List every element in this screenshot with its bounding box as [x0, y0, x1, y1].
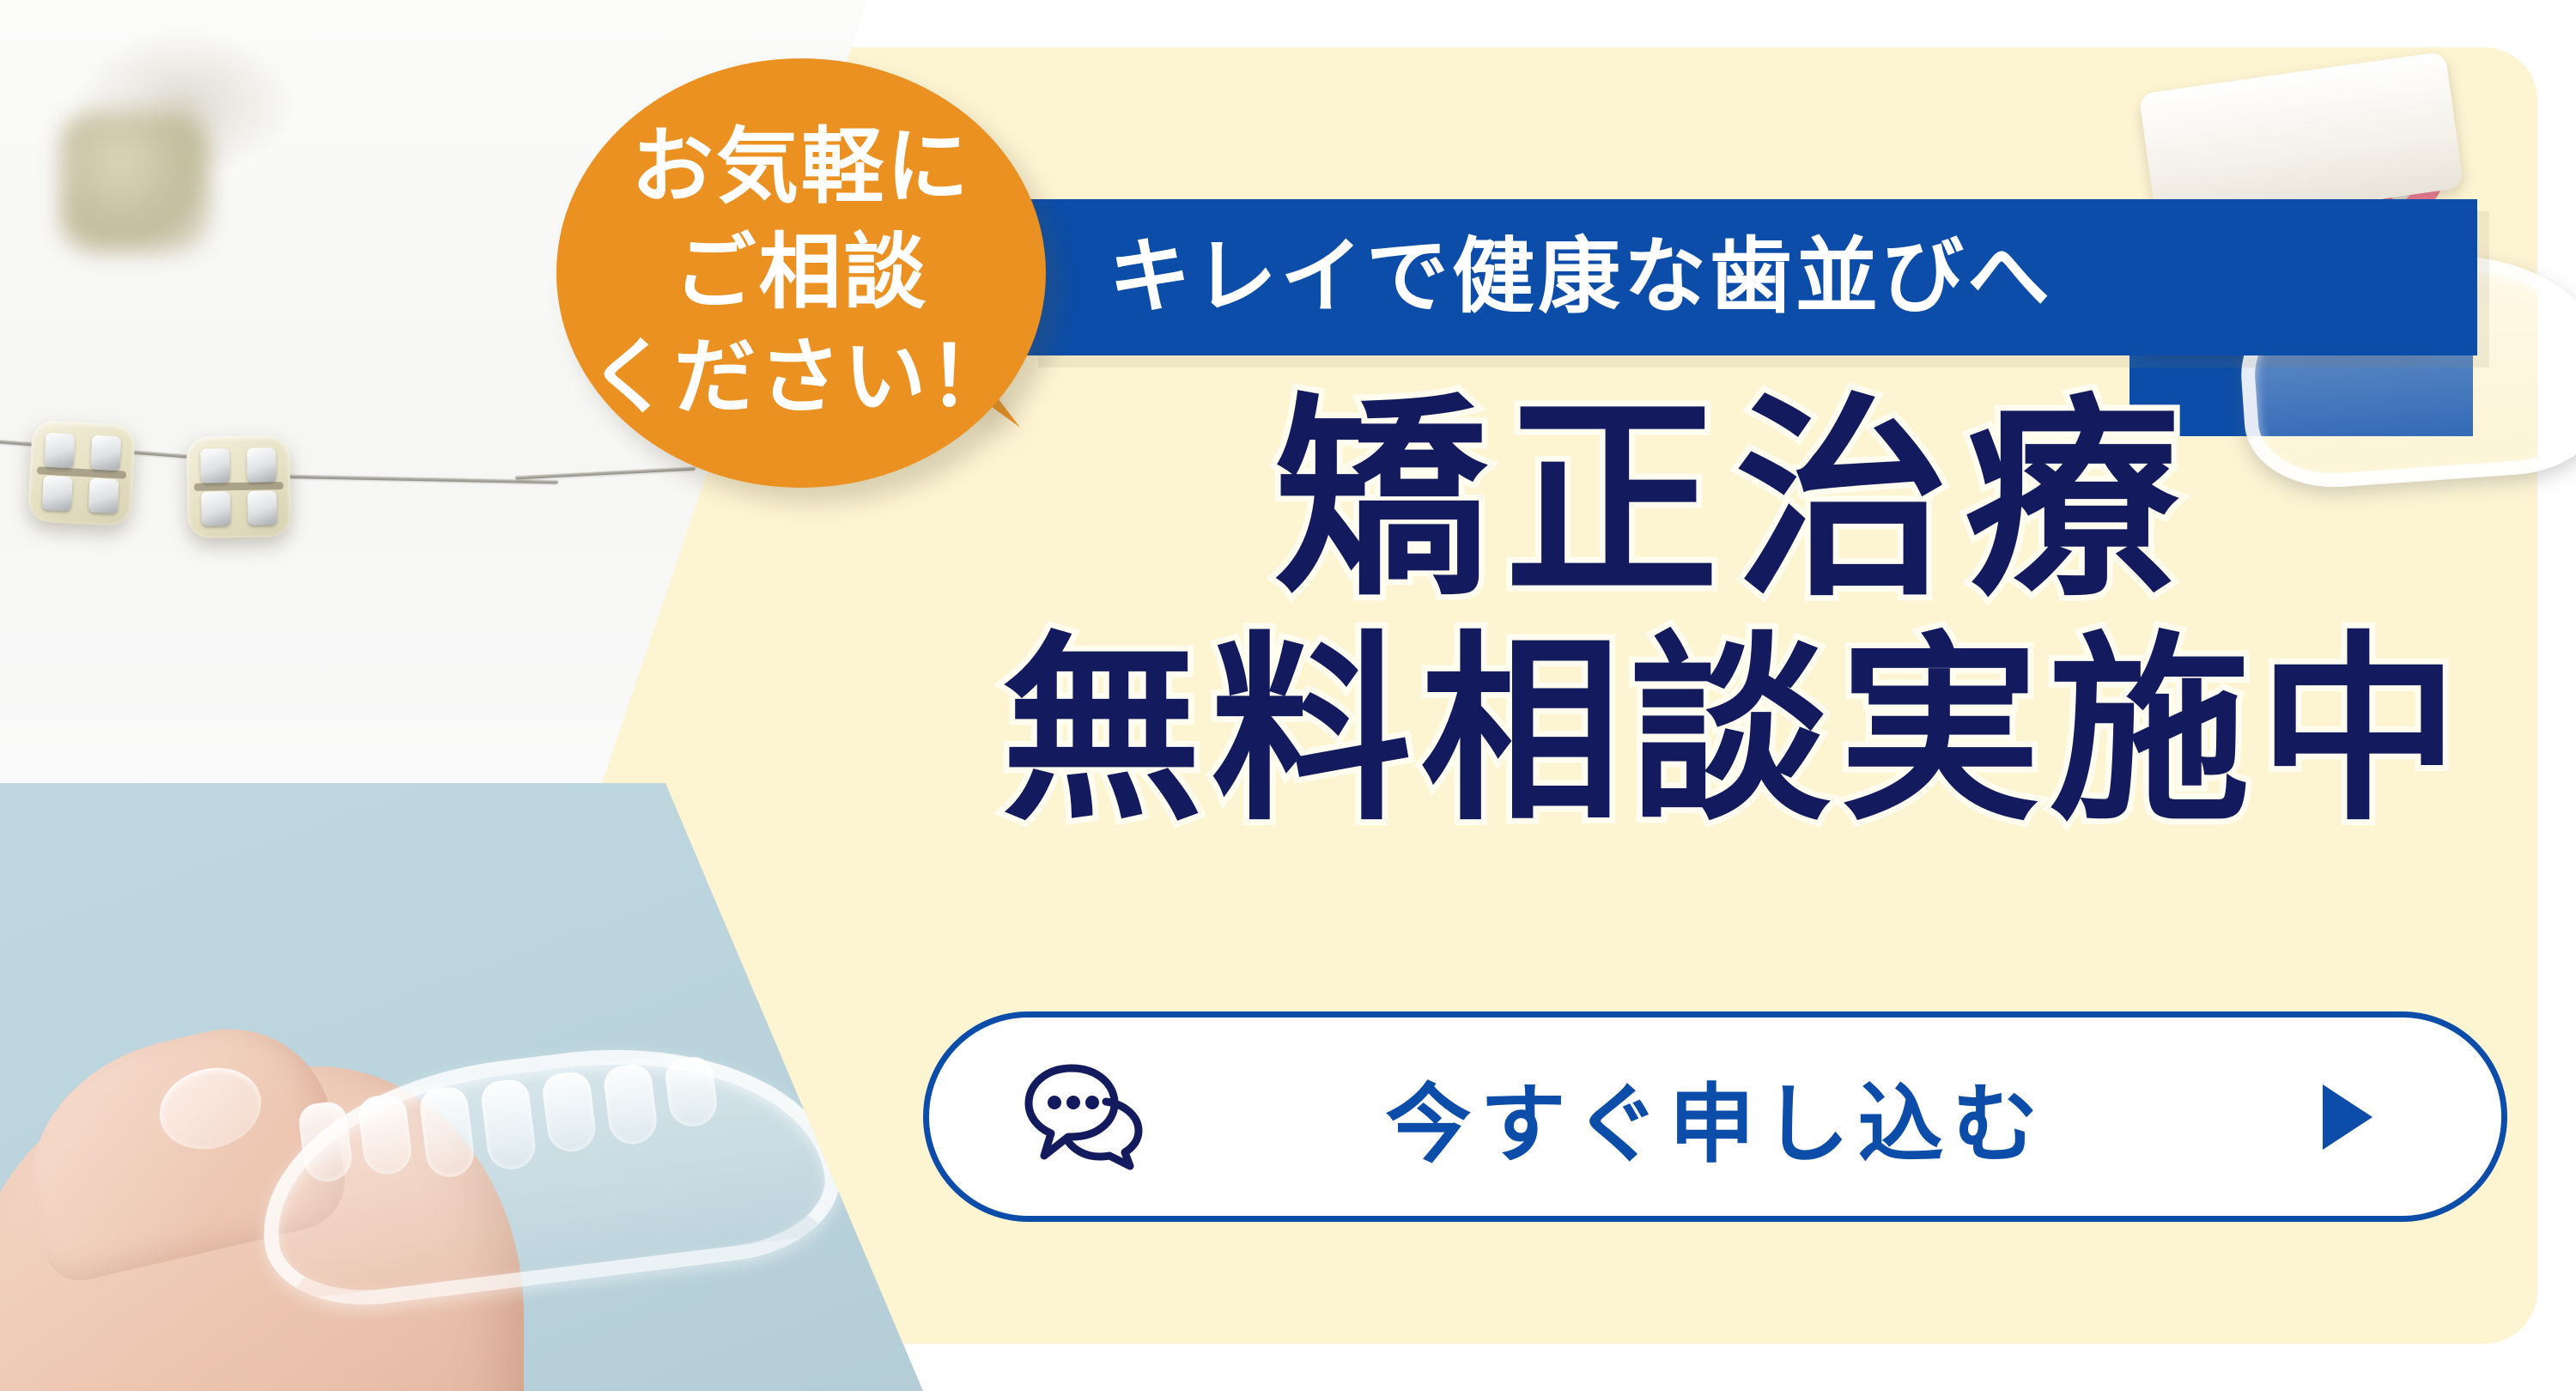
headline-secondary: 無料相談実施中 [979, 629, 2490, 834]
bubble-line-3: ください！ [589, 325, 1014, 431]
tagline-banner: キレイで健康な歯並びへ [1026, 199, 2477, 355]
cta-label: 今すぐ申し込む [1109, 1054, 2323, 1179]
banner-stage: キレイで健康な歯並びへ 矯正治療 無料相談実施中 お気軽に ご相談 ください！ … [0, 0, 2576, 1391]
play-triangle-icon [2323, 1084, 2372, 1150]
bracket [27, 420, 136, 526]
apply-now-button[interactable]: 今すぐ申し込む [923, 1011, 2507, 1222]
clear-aligner [246, 1022, 848, 1317]
speech-bubble: お気軽に ご相談 ください！ [556, 58, 1046, 488]
bubble-line-2: ご相談 [674, 221, 929, 326]
archwire-segment [515, 466, 696, 480]
bubble-line-1: お気軽に [631, 115, 971, 221]
headline-primary: 矯正治療 [979, 391, 2490, 610]
blurred-bracket [60, 112, 210, 253]
bracket [186, 435, 291, 538]
tagline-text: キレイで健康な歯並びへ [1109, 236, 2053, 319]
headline-group: 矯正治療 無料相談実施中 [979, 391, 2490, 834]
